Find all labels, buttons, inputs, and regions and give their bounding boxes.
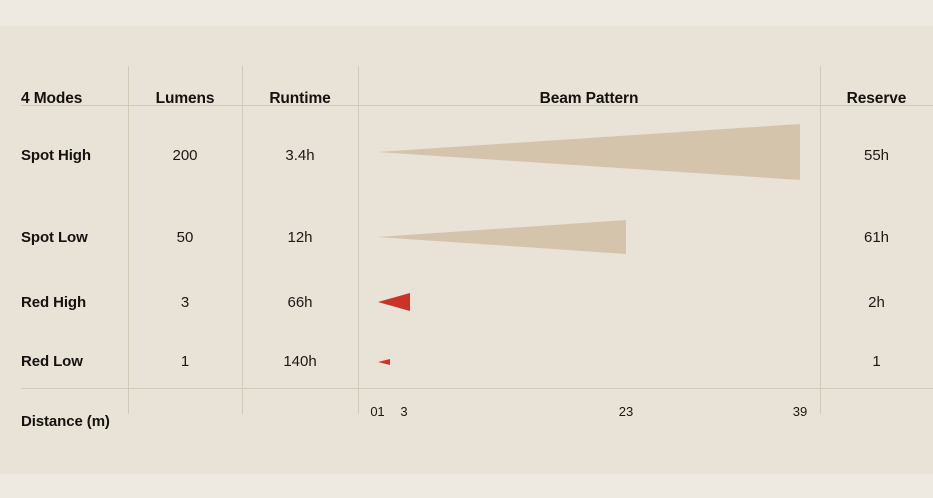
column-header-modes: 4 Modes (0, 66, 149, 131)
cell-lumens: 50 (128, 227, 242, 247)
beam-cone-spot-high (378, 122, 802, 182)
cell-lumens: 3 (128, 292, 242, 312)
axis-label-distance: Distance (m) (21, 413, 110, 430)
column-header-reserve: Reserve (820, 66, 933, 131)
row-label-mode: Red Low (21, 351, 83, 371)
cell-reserve: 61h (820, 227, 933, 247)
column-header-lumens: Lumens (128, 66, 242, 131)
cell-runtime: 66h (242, 292, 358, 312)
cell-reserve: 1 (820, 351, 933, 371)
cell-runtime: 12h (242, 227, 358, 247)
cell-lumens: 1 (128, 351, 242, 371)
beam-cone-spot-low (378, 217, 628, 257)
axis-tick-23: 23 (619, 404, 633, 419)
row-label-mode: Spot Low (21, 227, 88, 247)
cell-reserve: 2h (820, 292, 933, 312)
beam-cone-red-low (378, 356, 392, 368)
flashlight-spec-table: 4 Modes Lumens Runtime Beam Pattern Rese… (0, 26, 933, 474)
row-label-mode: Spot High (21, 145, 91, 165)
cell-runtime: 140h (242, 351, 358, 371)
body-bottom-divider (21, 388, 933, 389)
axis-tick-39: 39 (793, 404, 807, 419)
row-label-mode: Red High (21, 292, 86, 312)
beam-cone-red-high (378, 289, 412, 315)
axis-tick-1: 1 (377, 404, 384, 419)
column-header-runtime: Runtime (242, 66, 358, 131)
cell-lumens: 200 (128, 145, 242, 165)
axis-tick-3: 3 (400, 404, 407, 419)
cell-runtime: 3.4h (242, 145, 358, 165)
cell-reserve: 55h (820, 145, 933, 165)
